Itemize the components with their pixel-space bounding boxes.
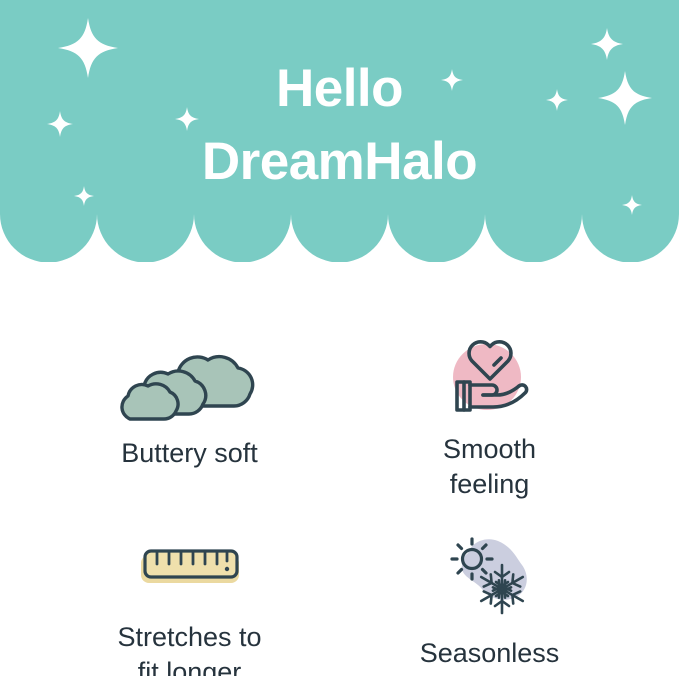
icon-slot bbox=[20, 338, 359, 430]
feature-item-smooth-feeling: Smooth feeling bbox=[320, 330, 659, 501]
ruler-dot bbox=[224, 567, 228, 571]
feature-label: Stretches to fit longer bbox=[20, 620, 359, 676]
sun-snowflake-icon bbox=[440, 531, 540, 617]
feature-label: Seasonless bbox=[320, 636, 659, 671]
ruler-icon bbox=[135, 543, 245, 595]
feature-label: Smooth feeling bbox=[320, 432, 659, 501]
feature-label: Buttery soft bbox=[20, 436, 359, 471]
feature-item-seasonless: Seasonless bbox=[320, 528, 659, 671]
feature-item-stretches: Stretches to fit longer bbox=[20, 530, 359, 676]
icon-slot bbox=[20, 530, 359, 608]
hand-holding-heart-icon bbox=[442, 331, 538, 421]
feature-grid: Buttery soft bbox=[0, 300, 679, 676]
icon-slot bbox=[320, 330, 659, 422]
icon-slot bbox=[320, 528, 659, 620]
promo-graphic: Hello DreamHalo Buttery soft bbox=[0, 0, 679, 676]
feature-item-buttery-soft: Buttery soft bbox=[20, 338, 359, 471]
ruler-body bbox=[145, 551, 237, 577]
header-background-shape bbox=[0, 0, 679, 262]
header-banner: Hello DreamHalo bbox=[0, 0, 679, 262]
cloud-icon bbox=[114, 342, 266, 426]
